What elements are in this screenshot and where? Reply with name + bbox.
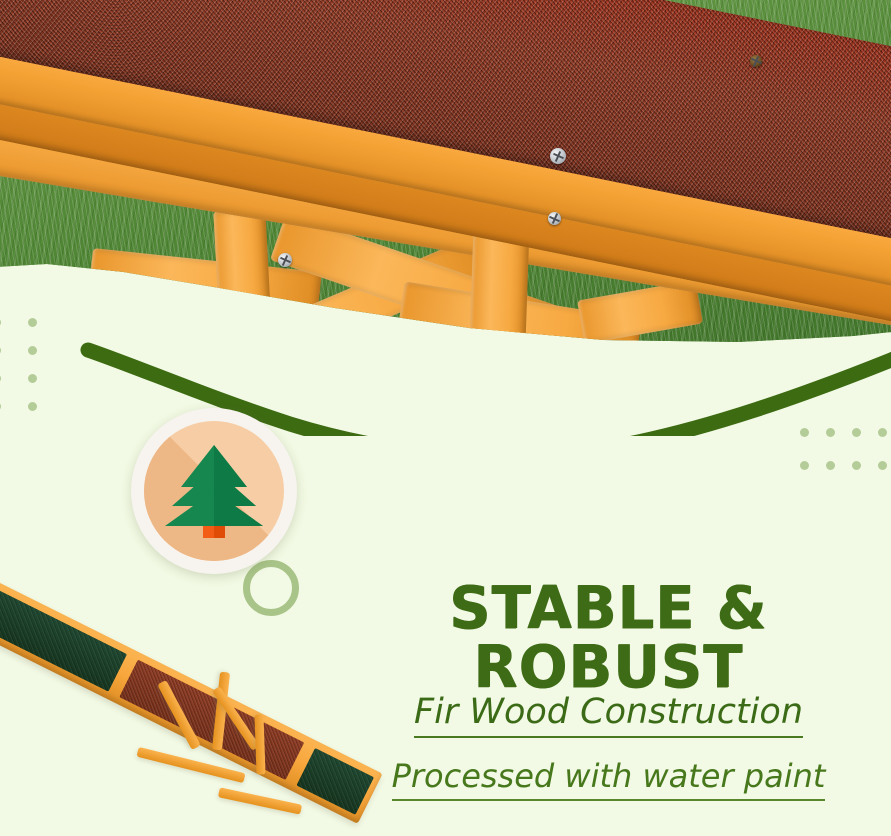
hero-closeup-photo <box>0 0 891 360</box>
dot-grid-left <box>0 318 64 430</box>
screw-icon <box>550 148 566 164</box>
dot-grid-right <box>800 428 891 494</box>
seesaw-strut <box>218 787 302 814</box>
wood-post-left <box>213 209 274 360</box>
marketing-banner: STABLE & ROBUST Fir Wood Construction Pr… <box>0 0 891 836</box>
feature-line-2-text: Processed with water paint <box>392 757 826 801</box>
anti-slip-pad-red <box>119 660 304 781</box>
screw-icon <box>120 342 134 356</box>
anti-slip-pad-green <box>0 577 127 691</box>
feature-line-2: Processed with water paint <box>336 757 881 801</box>
seesaw-ramp-body <box>0 564 383 824</box>
screw-icon <box>548 212 561 225</box>
feature-line-1-text: Fir Wood Construction <box>414 692 803 738</box>
product-seesaw-photo <box>0 528 378 836</box>
screw-icon <box>750 55 762 67</box>
page-title: STABLE & ROBUST <box>344 578 873 696</box>
screw-icon <box>278 253 292 267</box>
feature-line-1: Fir Wood Construction <box>336 692 881 738</box>
